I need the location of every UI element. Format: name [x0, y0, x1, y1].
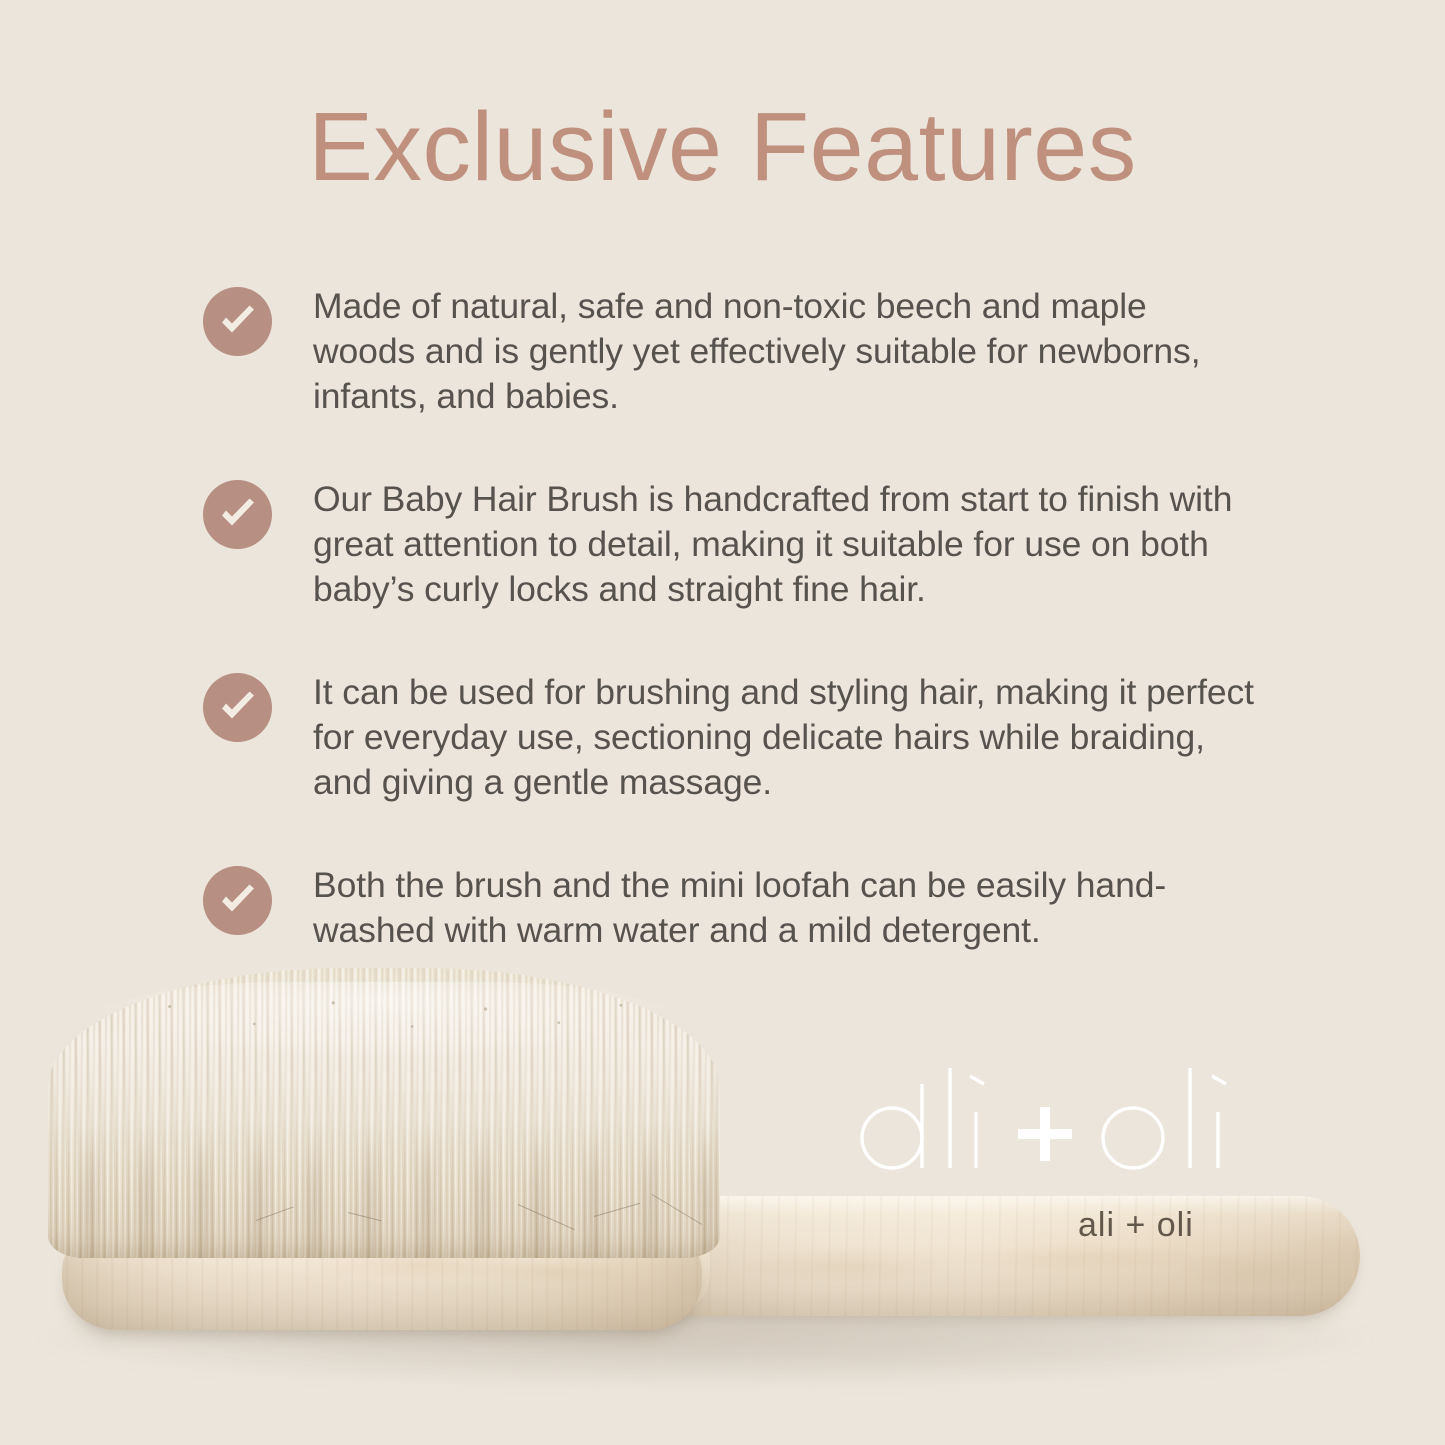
infographic-page: Exclusive Features Made of natural, safe… [0, 0, 1445, 1445]
feature-item: Made of natural, safe and non-toxic beec… [203, 284, 1263, 419]
feature-item: Our Baby Hair Brush is handcrafted from … [203, 477, 1263, 612]
check-circle-icon [203, 287, 272, 356]
product-image: ali + oli [0, 960, 1445, 1445]
brush-bristles [48, 968, 720, 1258]
brand-watermark [850, 1066, 1310, 1186]
bristle-speckles [102, 988, 667, 1050]
feature-text: It can be used for brushing and styling … [313, 670, 1258, 805]
feature-list: Made of natural, safe and non-toxic beec… [203, 284, 1263, 953]
engraved-brand-logo: ali + oli [1078, 1206, 1194, 1245]
check-circle-icon [203, 673, 272, 742]
check-circle-icon [203, 866, 272, 935]
page-title: Exclusive Features [0, 96, 1445, 198]
wood-grain-texture [620, 1196, 1360, 1316]
feature-item: It can be used for brushing and styling … [203, 670, 1263, 805]
brush-handle: ali + oli [620, 1196, 1360, 1316]
feature-item: Both the brush and the mini loofah can b… [203, 863, 1263, 953]
feature-text: Both the brush and the mini loofah can b… [313, 863, 1258, 953]
feature-text: Our Baby Hair Brush is handcrafted from … [313, 477, 1258, 612]
feature-text: Made of natural, safe and non-toxic beec… [313, 284, 1258, 419]
check-circle-icon [203, 480, 272, 549]
bristle-tufts [48, 1126, 720, 1258]
